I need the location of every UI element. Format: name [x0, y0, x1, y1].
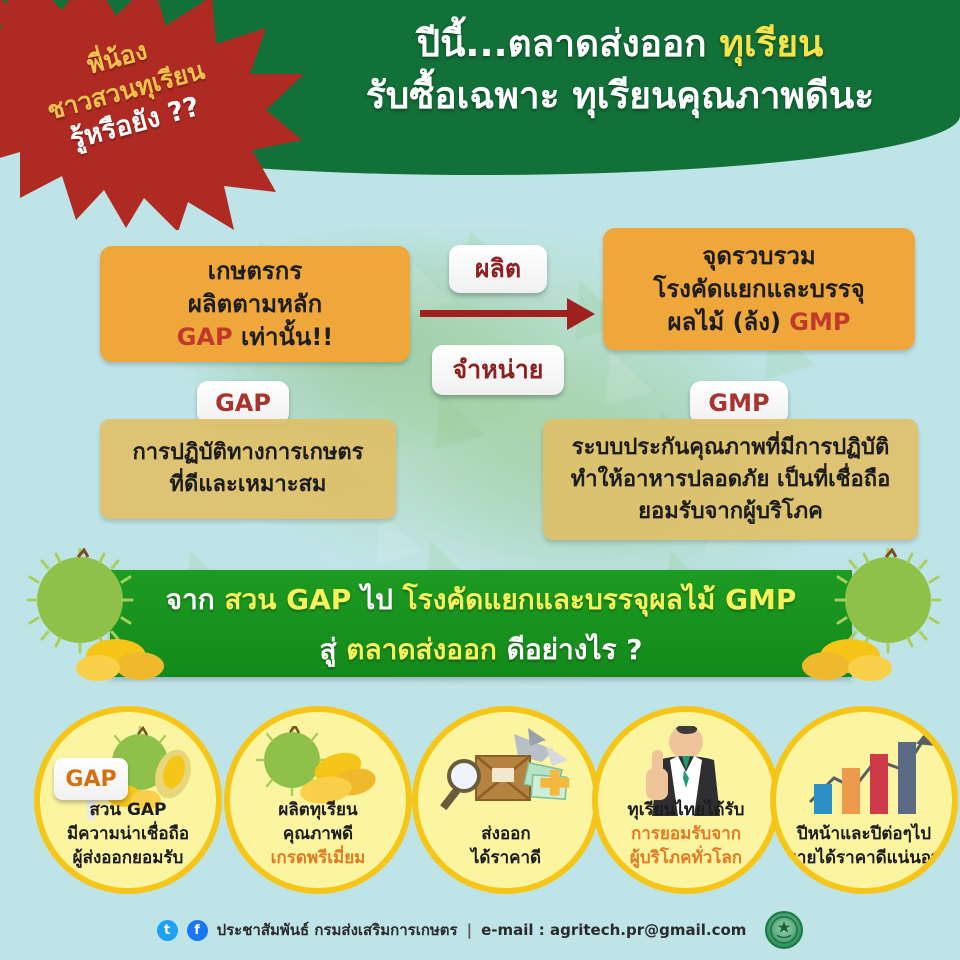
benefit-1-line-1: สวน GAP	[40, 798, 216, 822]
benefit-2-line-1: ผลิตทุเรียน	[230, 798, 406, 822]
benefit-circle-1: GAP สวน GAP มีความน่าเชื่อถือ ผู้ส่งออกย…	[34, 706, 222, 894]
farmer-line-1: เกษตรกร	[208, 255, 302, 288]
question-banner: จาก สวน GAP ไป โรงคัดแยกและบรรจุผลไม้ GM…	[110, 570, 852, 677]
benefit-2-line-2: คุณภาพดี	[230, 822, 406, 846]
farmer-line-3: GAP เท่านั้น!!	[177, 321, 333, 354]
starburst-shape-icon	[0, 0, 306, 230]
banner-line-2: สู่ ตลาดส่งออก ดีอย่างไร ?	[110, 625, 852, 675]
benefit-4-line-3: ผู้บริโภคทั่วโลก	[598, 846, 774, 870]
pill-distribute: จำหน่าย	[432, 345, 564, 395]
pill-gap-label: GAP	[197, 381, 289, 424]
thumb-up-hand-icon	[646, 750, 668, 800]
bar-chart-icon	[776, 726, 952, 816]
banner-line-1: จาก สวน GAP ไป โรงคัดแยกและบรรจุผลไม้ GM…	[110, 570, 852, 625]
durian-right-icon	[800, 548, 950, 686]
footer-bar: t f ประชาสัมพันธ์ กรมส่งเสริมการเกษตร | …	[0, 900, 960, 960]
farmer-line-2: ผลิตตามหลัก	[188, 288, 322, 321]
benefit-1-line-2: มีความน่าเชื่อถือ	[40, 822, 216, 846]
packhouse-line-3: ผลไม้ (ล้ง) GMP	[668, 306, 851, 339]
benefit-3-line-2: ได้ราคาดี	[418, 846, 594, 870]
footer-org: ประชาสัมพันธ์ กรมส่งเสริมการเกษตร	[217, 918, 458, 942]
benefit-2-text: ผลิตทุเรียน คุณภาพดี เกรดพรีเมี่ยม	[230, 798, 406, 888]
durian-gap-sign-icon: GAP	[40, 726, 216, 808]
benefit-2-line-3: เกรดพรีเมี่ยม	[230, 846, 406, 870]
pill-gmp-label: GMP	[690, 381, 788, 424]
footer-separator: |	[467, 921, 472, 939]
gap-sign-label: GAP	[54, 758, 128, 800]
packhouse-line-1: จุดรวบรวม	[702, 240, 815, 273]
gap-def-line-1: การปฏิบัติทางการเกษตร	[132, 437, 363, 469]
attention-starburst: พี่น้อง ชาวสวนทุเรียน รู้หรือยัง ??	[0, 0, 306, 230]
benefit-circle-5: ปีหน้าและปีต่อๆไป ขายได้ราคาดีแน่นอน	[770, 706, 958, 894]
pill-produce: ผลิต	[449, 245, 547, 293]
benefit-circle-2: ผลิตทุเรียน คุณภาพดี เกรดพรีเมี่ยม	[224, 706, 412, 894]
thumbs-up-businessman-icon	[598, 726, 774, 808]
benefit-3-text: ส่งออก ได้ราคาดี	[418, 822, 594, 888]
twitter-icon[interactable]: t	[157, 920, 178, 941]
facebook-icon[interactable]: f	[187, 920, 208, 941]
benefit-1-text: สวน GAP มีความน่าเชื่อถือ ผู้ส่งออกยอมรั…	[40, 798, 216, 888]
benefit-5-line-2: ขายได้ราคาดีแน่นอน	[776, 846, 952, 870]
gmp-def-line-1: ระบบประกันคุณภาพที่มีการปฏิบัติ	[572, 432, 890, 464]
crate-plane-money-icon	[418, 726, 594, 816]
gmp-definition-box: ระบบประกันคุณภาพที่มีการปฏิบัติ ทำให้อาห…	[543, 419, 918, 540]
benefit-1-line-3: ผู้ส่งออกยอมรับ	[40, 846, 216, 870]
benefit-3-line-1: ส่งออก	[418, 822, 594, 846]
seal-emblem-icon	[770, 916, 798, 944]
growth-bar-chart-icon	[776, 726, 952, 808]
farmer-box: เกษตรกร ผลิตตามหลัก GAP เท่านั้น!!	[100, 246, 410, 362]
benefit-circle-3: ส่งออก ได้ราคาดี	[412, 706, 600, 894]
gmp-def-line-3: ยอมรับจากผู้บริโภค	[638, 496, 823, 528]
flow-arrow-head-icon	[567, 298, 595, 330]
export-crate-plane-icon	[418, 726, 594, 808]
gmp-def-line-2: ทำให้อาหารปลอดภัย เป็นที่เชื่อถือ	[571, 464, 891, 496]
header-text: ปีนี้...ตลาดส่งออก ทุเรียน รับซื้อเฉพาะ …	[300, 18, 940, 122]
magnifier-icon	[440, 761, 479, 810]
benefit-4-text: ทุเรียนไทยได้รับ การยอมรับจาก ผู้บริโภคท…	[598, 798, 774, 888]
benefit-4-line-1: ทุเรียนไทยได้รับ	[598, 798, 774, 822]
benefit-5-text: ปีหน้าและปีต่อๆไป ขายได้ราคาดีแน่นอน	[776, 822, 952, 888]
packhouse-box: จุดรวบรวม โรงคัดแยกและบรรจุ ผลไม้ (ล้ง) …	[603, 228, 915, 350]
packhouse-line-2: โรงคัดแยกและบรรจุ	[653, 273, 864, 306]
footer-email: e-mail : agritech.pr@gmail.com	[481, 921, 746, 939]
gap-definition-box: การปฏิบัติทางการเกษตร ที่ดีและเหมาะสม	[100, 419, 396, 519]
department-seal-icon	[765, 911, 803, 949]
header-line-1: ปีนี้...ตลาดส่งออก ทุเรียน	[300, 18, 940, 70]
header-line-2: รับซื้อเฉพาะ ทุเรียนคุณภาพดีนะ	[300, 70, 940, 122]
infographic-poster: ปีนี้...ตลาดส่งออก ทุเรียน รับซื้อเฉพาะ …	[0, 0, 960, 960]
benefit-5-line-1: ปีหน้าและปีต่อๆไป	[776, 822, 952, 846]
benefit-circle-4: ทุเรียนไทยได้รับ การยอมรับจาก ผู้บริโภคท…	[592, 706, 780, 894]
durian-flesh-icon	[230, 726, 406, 808]
gap-def-line-2: ที่ดีและเหมาะสม	[170, 469, 327, 501]
flow-arrow-line	[420, 310, 585, 317]
benefit-4-line-2: การยอมรับจาก	[598, 822, 774, 846]
durian-left-icon	[18, 548, 168, 686]
